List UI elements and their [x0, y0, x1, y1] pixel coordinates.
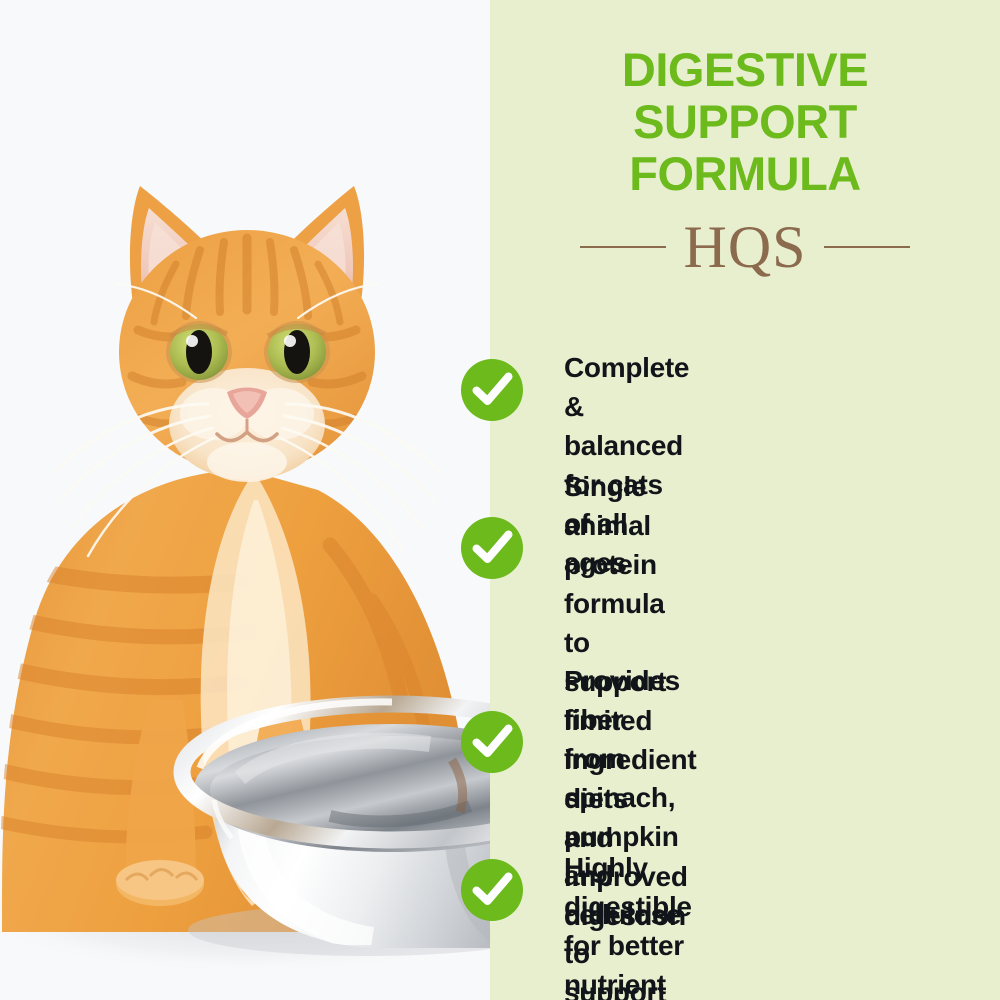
check-circle-icon [461, 859, 523, 921]
benefits-list: Complete & balanced for cats of all ages… [0, 0, 1000, 1000]
product-feature-graphic: DIGESTIVE SUPPORT FORMULA HQS Complete &… [0, 0, 1000, 1000]
check-circle-icon [461, 711, 523, 773]
check-circle-icon [461, 517, 523, 579]
list-item-label: Highly digestible for better nutrient ab… [564, 848, 706, 1000]
check-circle-icon [461, 359, 523, 421]
